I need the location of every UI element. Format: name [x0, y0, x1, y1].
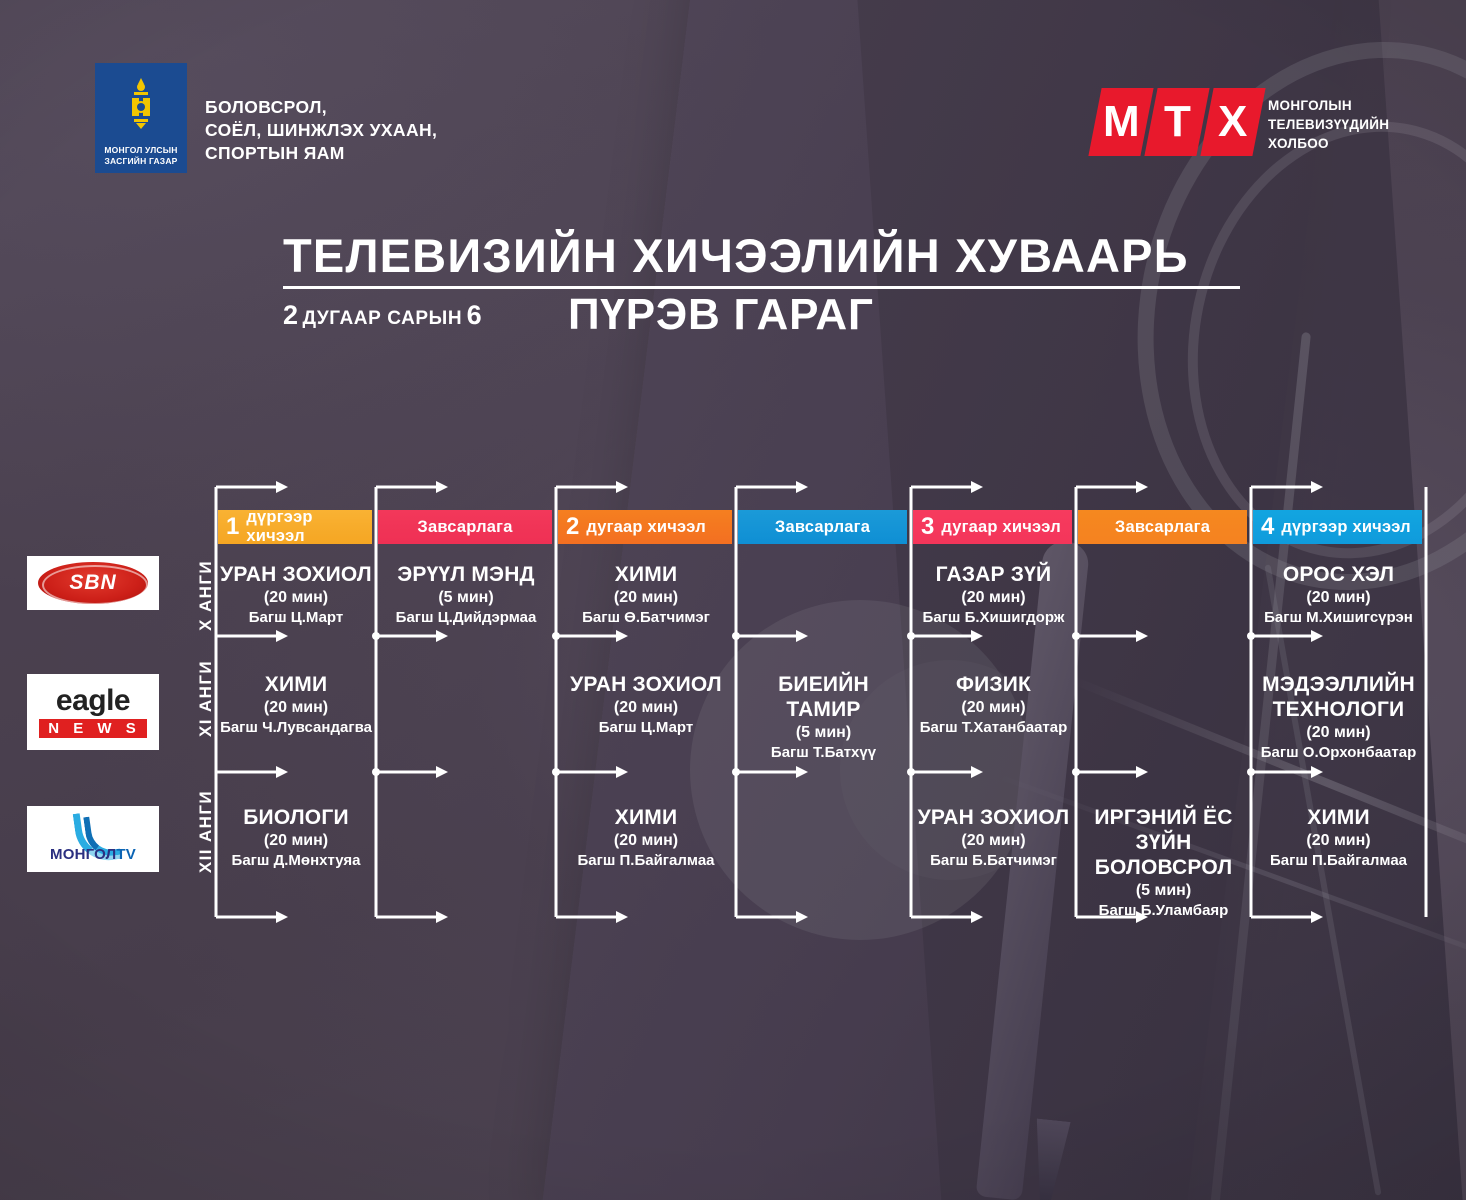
cell-duration: (20 мин) — [220, 830, 372, 851]
cell-teacher: Багш Б.Уламбаяр — [1080, 901, 1247, 921]
schedule-cell[interactable]: УРАН ЗОХИОЛ(20 мин)Багш Ц.Март — [560, 672, 732, 738]
column-header-label: Завсарлага — [1115, 518, 1210, 537]
cell-subject: ОРОС ХЭЛ — [1255, 562, 1422, 587]
schedule-cell[interactable]: МЭДЭЭЛЛИЙН ТЕХНОЛОГИ(20 мин)Багш О.Орхон… — [1255, 672, 1422, 763]
cell-subject: ЭРҮҮЛ МЭНД — [380, 562, 552, 587]
cell-teacher: Багш П.Байгалмаа — [560, 851, 732, 871]
eagle-news-logo: eagle N E W S — [27, 674, 159, 750]
cell-subject: ХИМИ — [1255, 805, 1422, 830]
cell-teacher: Багш М.Хишигсүрэн — [1255, 608, 1422, 628]
cell-duration: (5 мин) — [380, 587, 552, 608]
cell-teacher: Багш Б.Батчимэг — [915, 851, 1072, 871]
cell-duration: (20 мин) — [220, 587, 372, 608]
cell-subject: ФИЗИК — [915, 672, 1072, 697]
cell-subject: ХИМИ — [560, 805, 732, 830]
cell-duration: (20 мин) — [560, 587, 732, 608]
government-emblem: МОНГОЛ УЛСЫН ЗАСГИЙН ГАЗАР — [95, 63, 187, 173]
cell-teacher: Багш П.Байгалмаа — [1255, 851, 1422, 871]
date-mid-label: ДУГААР САРЫН — [302, 308, 462, 329]
cell-subject: МЭДЭЭЛЛИЙН ТЕХНОЛОГИ — [1255, 672, 1422, 722]
column-header-6[interactable]: Завсарлага — [1078, 510, 1247, 544]
column-header-label: дүргээр хичээл — [1281, 518, 1410, 537]
cell-duration: (20 мин) — [1255, 587, 1422, 608]
row-label-1: X АНГИ — [196, 560, 216, 631]
column-header-label: дүргээр хичээл — [246, 508, 372, 546]
sbn-logo-text: SBN — [69, 571, 116, 595]
mtx-letter-m: M — [1088, 88, 1153, 156]
cell-duration: (20 мин) — [1255, 722, 1422, 743]
cell-subject: ГАЗАР ЗҮЙ — [915, 562, 1072, 587]
schedule-cell[interactable]: БИОЛОГИ(20 мин)Багш Д.Мөнхтуяа — [220, 805, 372, 871]
cell-subject: ИРГЭНИЙ ЁС ЗҮЙН БОЛОВСРОЛ — [1080, 805, 1247, 880]
schedule-cell[interactable]: ЭРҮҮЛ МЭНД(5 мин)Багш Ц.Дийдэрмаа — [380, 562, 552, 628]
schedule-cell[interactable]: БИЕИЙН ТАМИР(5 мин)Багш Т.Батхүү — [740, 672, 907, 763]
column-header-5[interactable]: 3дугаар хичээл — [913, 510, 1072, 544]
schedule-cell[interactable]: УРАН ЗОХИОЛ(20 мин)Багш Ц.Март — [220, 562, 372, 628]
schedule-cell[interactable]: ГАЗАР ЗҮЙ(20 мин)Багш Б.Хишигдорж — [915, 562, 1072, 628]
cell-teacher: Багш Ц.Март — [220, 608, 372, 628]
mongol-tv-logo: МОНГОЛTV — [27, 806, 159, 872]
cell-teacher: Багш Б.Хишигдорж — [915, 608, 1072, 628]
government-emblem-line1: МОНГОЛ УЛСЫН — [104, 145, 177, 156]
mtx-subtitle: МОНГОЛЫН ТЕЛЕВИЗҮҮДИЙН ХОЛБОО — [1268, 96, 1389, 153]
column-header-number: 1 — [226, 515, 239, 539]
sbn-oval-mark: SBN — [38, 562, 148, 604]
cell-subject: БИОЛОГИ — [220, 805, 372, 830]
schedule-cell[interactable]: ИРГЭНИЙ ЁС ЗҮЙН БОЛОВСРОЛ(5 мин)Багш Б.У… — [1080, 805, 1247, 921]
cell-subject: УРАН ЗОХИОЛ — [220, 562, 372, 587]
cell-duration: (20 мин) — [1255, 830, 1422, 851]
cell-subject: УРАН ЗОХИОЛ — [560, 672, 732, 697]
mongol-tv-suffix: TV — [116, 846, 136, 863]
soyombo-icon — [124, 77, 158, 141]
column-header-number: 2 — [566, 515, 579, 539]
row-label-3: XII АНГИ — [196, 790, 216, 873]
column-header-label: дугаар хичээл — [941, 518, 1061, 537]
schedule-cell[interactable]: ХИМИ(20 мин)Багш Ч.Лувсандагва — [220, 672, 372, 738]
column-header-4[interactable]: Завсарлага — [738, 510, 907, 544]
column-header-number: 3 — [921, 515, 934, 539]
eagle-logo-text: eagle — [56, 686, 130, 716]
cell-teacher: Багш Ц.Дийдэрмаа — [380, 608, 552, 628]
cell-teacher: Багш Т.Батхүү — [740, 743, 907, 763]
cell-duration: (20 мин) — [560, 697, 732, 718]
cell-duration: (20 мин) — [560, 830, 732, 851]
cell-teacher: Багш О.Орхонбаатар — [1255, 743, 1422, 763]
cell-subject: ХИМИ — [560, 562, 732, 587]
column-header-label: Завсарлага — [775, 518, 870, 537]
eagle-news-text: N E W S — [39, 719, 147, 738]
cell-duration: (5 мин) — [1080, 880, 1247, 901]
weekday-label: ПҮРЭВ ГАРАГ — [568, 290, 874, 340]
government-emblem-line2: ЗАСГИЙН ГАЗАР — [104, 156, 177, 167]
column-header-7[interactable]: 4дүргээр хичээл — [1253, 510, 1422, 544]
cell-teacher: Багш Д.Мөнхтуяа — [220, 851, 372, 871]
schedule-cell[interactable]: ХИМИ(20 мин)Багш Ө.Батчимэг — [560, 562, 732, 628]
column-header-number: 4 — [1261, 515, 1274, 539]
cell-subject: УРАН ЗОХИОЛ — [915, 805, 1072, 830]
column-header-label: дугаар хичээл — [586, 518, 706, 537]
sbn-logo: SBN — [27, 556, 159, 610]
mtx-logo: M T X — [1095, 88, 1259, 156]
date-month: 2 — [283, 300, 298, 330]
schedule-cell[interactable]: ХИМИ(20 мин)Багш П.Байгалмаа — [1255, 805, 1422, 871]
ministry-name: БОЛОВСРОЛ, СОЁЛ, ШИНЖЛЭХ УХААН, СПОРТЫН … — [205, 96, 437, 165]
column-header-label: Завсарлага — [417, 518, 512, 537]
mongol-tv-text: МОНГОЛ — [50, 846, 116, 863]
column-header-3[interactable]: 2дугаар хичээл — [558, 510, 732, 544]
mtx-letter-x: X — [1200, 88, 1265, 156]
cell-duration: (20 мин) — [915, 697, 1072, 718]
cell-teacher: Багш Ц.Март — [560, 718, 732, 738]
cell-subject: БИЕИЙН ТАМИР — [740, 672, 907, 722]
mongol-tv-mark: МОНГОЛTV — [32, 811, 154, 867]
cell-duration: (20 мин) — [915, 830, 1072, 851]
date-day: 6 — [467, 300, 482, 330]
column-header-1[interactable]: 1дүргээр хичээл — [218, 510, 372, 544]
column-header-2[interactable]: Завсарлага — [378, 510, 552, 544]
cell-teacher: Багш Ө.Батчимэг — [560, 608, 732, 628]
cell-subject: ХИМИ — [220, 672, 372, 697]
mtx-letter-t: T — [1144, 88, 1209, 156]
mtx-letter-t-text: T — [1164, 100, 1191, 144]
title-divider — [283, 286, 1240, 289]
mtx-letter-x-text: X — [1218, 100, 1247, 144]
schedule-cell[interactable]: УРАН ЗОХИОЛ(20 мин)Багш Б.Батчимэг — [915, 805, 1072, 871]
schedule-cell[interactable]: ОРОС ХЭЛ(20 мин)Багш М.Хишигсүрэн — [1255, 562, 1422, 628]
cell-duration: (20 мин) — [220, 697, 372, 718]
cell-teacher: Багш Ч.Лувсандагва — [220, 718, 372, 738]
cell-duration: (20 мин) — [915, 587, 1072, 608]
cell-teacher: Багш Т.Хатанбаатар — [915, 718, 1072, 738]
mongol-tv-text-wrap: МОНГОЛTV — [50, 846, 136, 867]
cell-duration: (5 мин) — [740, 722, 907, 743]
schedule-cell[interactable]: ХИМИ(20 мин)Багш П.Байгалмаа — [560, 805, 732, 871]
row-label-2: XI АНГИ — [196, 660, 216, 737]
date-label: 2 ДУГААР САРЫН 6 — [283, 300, 482, 331]
mtx-letter-m-text: M — [1103, 100, 1140, 144]
schedule-cell[interactable]: ФИЗИК(20 мин)Багш Т.Хатанбаатар — [915, 672, 1072, 738]
page-title: ТЕЛЕВИЗИЙН ХИЧЭЭЛИЙН ХУВААРЬ — [283, 228, 1189, 283]
